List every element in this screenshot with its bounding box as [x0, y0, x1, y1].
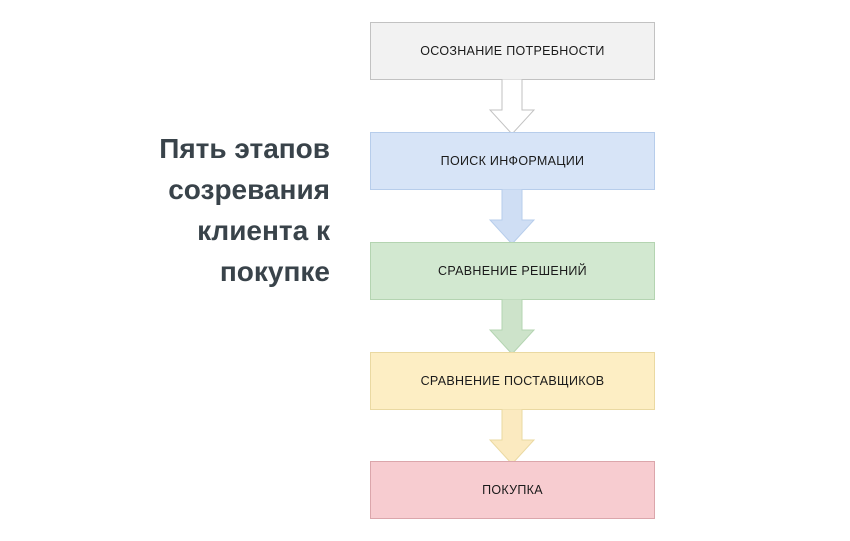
flow-stage-label: ПОИСК ИНФОРМАЦИИ — [435, 154, 591, 168]
flow-stage-label: СРАВНЕНИЕ ПОСТАВЩИКОВ — [415, 374, 611, 388]
arrow-down-icon-2 — [489, 189, 535, 245]
arrow-down-icon-4 — [489, 409, 535, 465]
flow-stage-information-search[interactable]: ПОИСК ИНФОРМАЦИИ — [370, 132, 655, 190]
arrow-down-icon-1 — [489, 79, 535, 135]
flow-stage-label: ПОКУПКА — [476, 483, 549, 497]
flow-stage-vendor-comparison[interactable]: СРАВНЕНИЕ ПОСТАВЩИКОВ — [370, 352, 655, 410]
arrow-down-icon-3 — [489, 299, 535, 355]
flow-stage-label: ОСОЗНАНИЕ ПОТРЕБНОСТИ — [414, 44, 610, 58]
diagram-title: Пять этапов созревания клиента к покупке — [140, 128, 330, 292]
flow-stage-purchase[interactable]: ПОКУПКА — [370, 461, 655, 519]
flowchart-column: ОСОЗНАНИЕ ПОТРЕБНОСТИ ПОИСК ИНФОРМАЦИИ С… — [370, 22, 655, 520]
flow-stage-solution-comparison[interactable]: СРАВНЕНИЕ РЕШЕНИЙ — [370, 242, 655, 300]
flow-stage-label: СРАВНЕНИЕ РЕШЕНИЙ — [432, 264, 593, 278]
diagram-canvas: Пять этапов созревания клиента к покупке… — [0, 0, 850, 541]
flow-stage-awareness[interactable]: ОСОЗНАНИЕ ПОТРЕБНОСТИ — [370, 22, 655, 80]
